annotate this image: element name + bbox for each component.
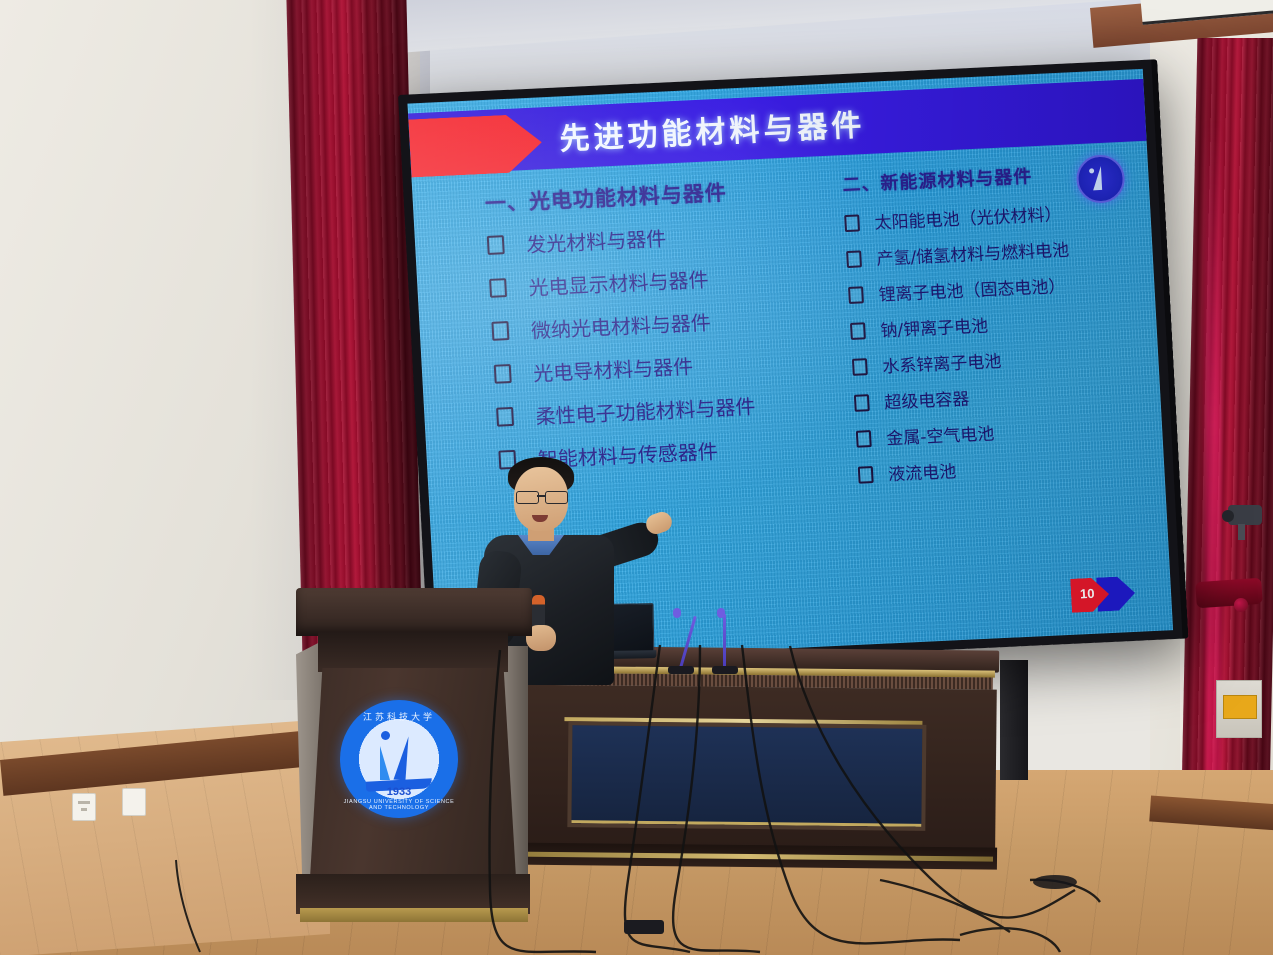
curtain-tassel [1234,598,1248,612]
alarm-label [1223,695,1257,719]
checkbox-icon [848,286,864,304]
emblem-founding-year: 1933 [340,786,458,798]
slide-title-bar: 先进功能材料与器件 [408,79,1147,176]
lecture-hall-scene: 先进功能材料与器件 一、光电功能材料与器件 发光材料与器件 [0,0,1273,955]
presenter-glasses [516,491,568,502]
slide-column-new-energy: 二、新能源材料与器件 太阳能电池（光伏材料） 产氢/储氢材料与燃料电池 锂离子电… [842,156,1173,498]
wall-fire-alarm-box [1216,680,1262,738]
outlet-slot [78,801,90,804]
bullet-item: 锂离子电池（固态电池） [848,266,1173,307]
emblem-sail-primary [393,736,408,781]
bullet-label: 液流电池 [887,457,956,485]
university-emblem: 江苏科技大学 1933 JIANGSU UNIVERSITY OF SCIENC… [340,700,458,818]
bullet-item: 钠/钾离子电池 [850,302,1173,343]
checkbox-icon [496,407,514,427]
curtain-tieback [1195,578,1263,609]
bullet-label: 光电导材料与器件 [532,350,693,386]
camera-mount-arm [1238,524,1245,540]
bullet-label: 水系锌离子电池 [882,347,1002,378]
bullet-label: 金属-空气电池 [886,419,995,449]
bullet-label: 柔性电子功能材料与器件 [535,391,756,430]
bullet-label: 锂离子电池（固态电池） [878,272,1066,306]
table-front-body [499,684,997,849]
podium-neck [318,632,508,672]
bullet-item: 超级电容器 [854,374,1173,415]
column-heading-2: 二、新能源材料与器件 [842,156,1173,198]
bullet-item: 液流电池 [858,446,1174,487]
checkbox-icon [494,364,512,384]
bullet-label: 光电显示材料与器件 [528,264,709,301]
checkbox-icon [850,322,866,340]
checkbox-icon [846,250,862,268]
emblem-sail-secondary [380,746,390,780]
checkbox-icon [489,278,507,298]
checkbox-icon [858,466,874,484]
microphone-neck [723,614,726,668]
checkbox-icon [491,321,509,341]
bullet-label: 微纳光电材料与器件 [530,307,711,344]
emblem-english-name: JIANGSU UNIVERSITY OF SCIENCE AND TECHNO… [340,799,458,811]
bullet-item: 光电显示材料与器件 [489,256,870,303]
microphone-base [668,666,694,674]
wall-camera [1222,505,1264,537]
bullet-item: 光电导材料与器件 [493,342,874,389]
gooseneck-microphone [668,608,698,674]
power-outlet [72,793,96,821]
checkbox-icon [854,394,870,412]
podium-gold-foot [300,908,528,922]
checkbox-icon [852,358,868,376]
floor-speaker [1000,660,1028,780]
microphone-base [712,666,738,674]
curtain-highlight [1205,120,1221,880]
glasses-right-lens [545,491,568,504]
column-heading-1: 一、光电功能材料与器件 [484,170,865,218]
bullet-item: 柔性电子功能材料与器件 [496,385,877,432]
checkbox-icon [856,430,872,448]
page-number-label: 10 [1080,586,1095,602]
power-outlet-2 [122,788,146,816]
checkbox-icon [844,214,860,232]
bullet-label: 超级电容器 [884,384,970,413]
glasses-left-lens [516,491,539,504]
slide-column-optoelectronic: 一、光电功能材料与器件 发光材料与器件 光电显示材料与器件 微纳光电材料与器件 [484,170,880,488]
slide-title: 先进功能材料与器件 [558,100,866,158]
bullet-item: 产氢/储氢材料与燃料电池 [846,231,1173,272]
bullet-item: 金属-空气电池 [856,410,1174,451]
bullet-item: 微纳光电材料与器件 [491,299,872,346]
title-arrow-icon [408,113,543,177]
microphone-neck [679,616,697,669]
glasses-bridge [537,495,545,497]
checkbox-icon [487,235,505,255]
podium-top-surface [296,588,532,636]
table-front-panel [567,721,926,831]
camera-lens-icon [1222,510,1234,522]
bullet-item: 太阳能电池（光伏材料） [844,195,1173,236]
bullet-label: 产氢/储氢材料与燃料电池 [876,236,1070,270]
slide-page-number: 10 [1070,575,1144,612]
emblem-chinese-name: 江苏科技大学 [340,710,458,723]
outlet-slot-lower [81,808,87,811]
bullet-label: 太阳能电池（光伏材料） [874,200,1062,234]
microphone-head [673,608,681,618]
bullet-item: 水系锌离子电池 [852,338,1173,379]
bullet-label: 钠/钾离子电池 [880,311,989,341]
emblem-sun-dot [381,731,390,740]
bullet-item: 发光材料与器件 [486,213,867,260]
gooseneck-microphone-2 [712,616,742,674]
microphone-head [717,608,725,618]
bullet-label: 发光材料与器件 [525,223,666,259]
lectern-podium: 江苏科技大学 1933 JIANGSU UNIVERSITY OF SCIENC… [288,588,538,928]
